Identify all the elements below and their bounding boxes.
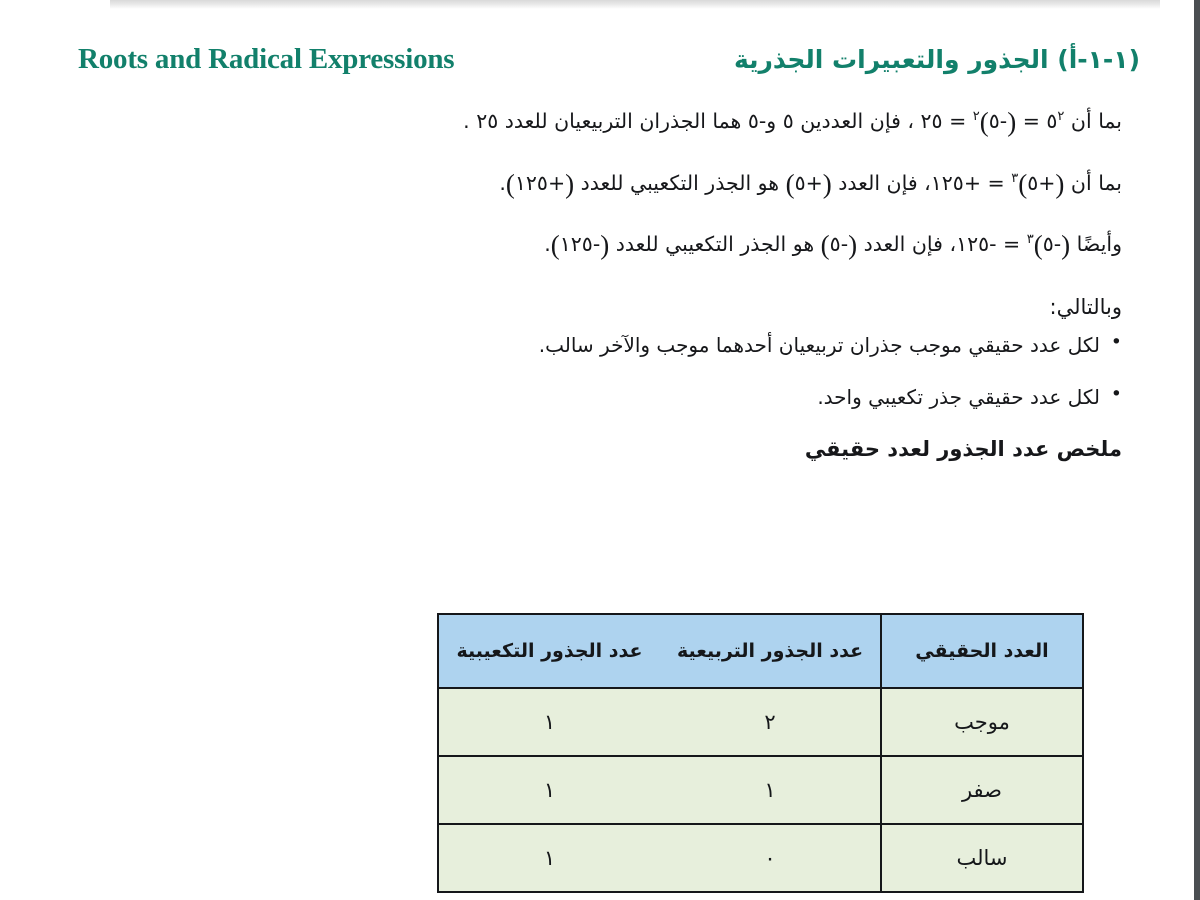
section-title-english: Roots and Radical Expressions: [78, 43, 454, 76]
cell-real-number: موجب: [881, 688, 1083, 756]
table-caption: ملخص عدد الجذور لعدد حقيقي: [70, 437, 1122, 461]
math-3-exponent: ٣: [1027, 233, 1034, 248]
math-1-exponent-2: ٢: [973, 109, 980, 124]
table-row: صفر ١ ١: [438, 756, 1083, 824]
math-3-value-1: -٥: [1043, 232, 1061, 256]
cell-square-roots: ٠: [660, 824, 881, 892]
cell-square-roots: ٢: [660, 688, 881, 756]
table-header-row: العدد الحقيقي عدد الجذور التربيعية عدد ا…: [438, 614, 1083, 688]
table-row: سالب ٠ ١: [438, 824, 1083, 892]
math-2-open-paren-3: (: [565, 169, 574, 199]
math-1-close-paren: ): [980, 107, 989, 137]
conclusion-label: وبالتالي:: [70, 295, 1122, 319]
math-1-open-paren: (: [1007, 107, 1016, 137]
math-1-value: -٥: [989, 109, 1007, 133]
math-2-middle-2: هو الجذر التكعيبي للعدد: [574, 171, 785, 195]
math-statement-1: بما أن ٥٢ = (-٥)٢ = ٢٥ ، فإن العددين ٥ و…: [70, 100, 1122, 150]
roots-summary-table: العدد الحقيقي عدد الجذور التربيعية عدد ا…: [437, 613, 1084, 893]
section-title-arabic: (١-١-أ) الجذور والتعبيرات الجذرية: [734, 45, 1140, 74]
lesson-body: بما أن ٥٢ = (-٥)٢ = ٢٥ ، فإن العددين ٥ و…: [70, 100, 1122, 461]
math-2-close-paren-3: ): [506, 169, 515, 199]
math-2-value-3: +١٢٥: [515, 171, 565, 195]
math-2-value-1: +٥: [1027, 171, 1055, 195]
cell-cube-roots: ١: [438, 756, 660, 824]
page-right-edge: [1194, 0, 1200, 900]
math-2-middle: = +١٢٥، فإن العدد: [832, 171, 1011, 195]
math-3-close-paren-2: ): [821, 230, 830, 260]
table-header: العدد الحقيقي عدد الجذور التربيعية عدد ا…: [438, 614, 1083, 688]
math-2-close-paren-2: ): [786, 169, 795, 199]
cell-square-roots: ١: [660, 756, 881, 824]
math-2-prefix: بما أن: [1064, 171, 1122, 195]
math-statement-2: بما أن (+٥)٣ = +١٢٥، فإن العدد (+٥) هو ا…: [70, 162, 1122, 212]
math-3-open-paren-1: (: [1061, 230, 1070, 260]
math-3-middle-2: هو الجذر التكعيبي للعدد: [609, 232, 820, 256]
page-top-band: [110, 0, 1160, 9]
page-header: Roots and Radical Expressions (١-١-أ) ال…: [78, 36, 1140, 82]
column-header-real-number: العدد الحقيقي: [881, 614, 1083, 688]
list-item: لكل عدد حقيقي موجب جذران تربيعيان أحدهما…: [70, 333, 1122, 357]
math-3-open-paren-2: (: [848, 230, 857, 260]
math-3-open-paren-3: (: [600, 230, 609, 260]
math-3-middle: = -١٢٥، فإن العدد: [857, 232, 1027, 256]
math-3-prefix: وأيضًا: [1070, 232, 1122, 256]
math-3-close-paren-3: ): [551, 230, 560, 260]
math-1-tail: = ٢٥ ، فإن العددين ٥ و-٥ هما الجذران الت…: [463, 109, 973, 133]
conclusion-bullet-list: لكل عدد حقيقي موجب جذران تربيعيان أحدهما…: [70, 333, 1122, 409]
math-3-close-paren-1: ): [1034, 230, 1043, 260]
math-2-value-2: +٥: [795, 171, 823, 195]
column-header-square-roots: عدد الجذور التربيعية: [660, 614, 881, 688]
column-header-cube-roots: عدد الجذور التكعيبية: [438, 614, 660, 688]
math-statement-3: وأيضًا (-٥)٣ = -١٢٥، فإن العدد (-٥) هو ا…: [70, 223, 1122, 273]
math-3-value-2: -٥: [830, 232, 848, 256]
textbook-page: Roots and Radical Expressions (١-١-أ) ال…: [0, 0, 1200, 900]
list-item: لكل عدد حقيقي جذر تكعيبي واحد.: [70, 385, 1122, 409]
math-1-equals-1: =: [1016, 109, 1046, 133]
math-3-value-3: -١٢٥: [560, 232, 600, 256]
cell-cube-roots: ١: [438, 688, 660, 756]
table-row: موجب ٢ ١: [438, 688, 1083, 756]
cell-cube-roots: ١: [438, 824, 660, 892]
cell-real-number: سالب: [881, 824, 1083, 892]
math-2-close-paren-1: ): [1018, 169, 1027, 199]
math-2-open-paren-2: (: [823, 169, 832, 199]
cell-real-number: صفر: [881, 756, 1083, 824]
table-body: موجب ٢ ١ صفر ١ ١ سالب ٠ ١: [438, 688, 1083, 892]
